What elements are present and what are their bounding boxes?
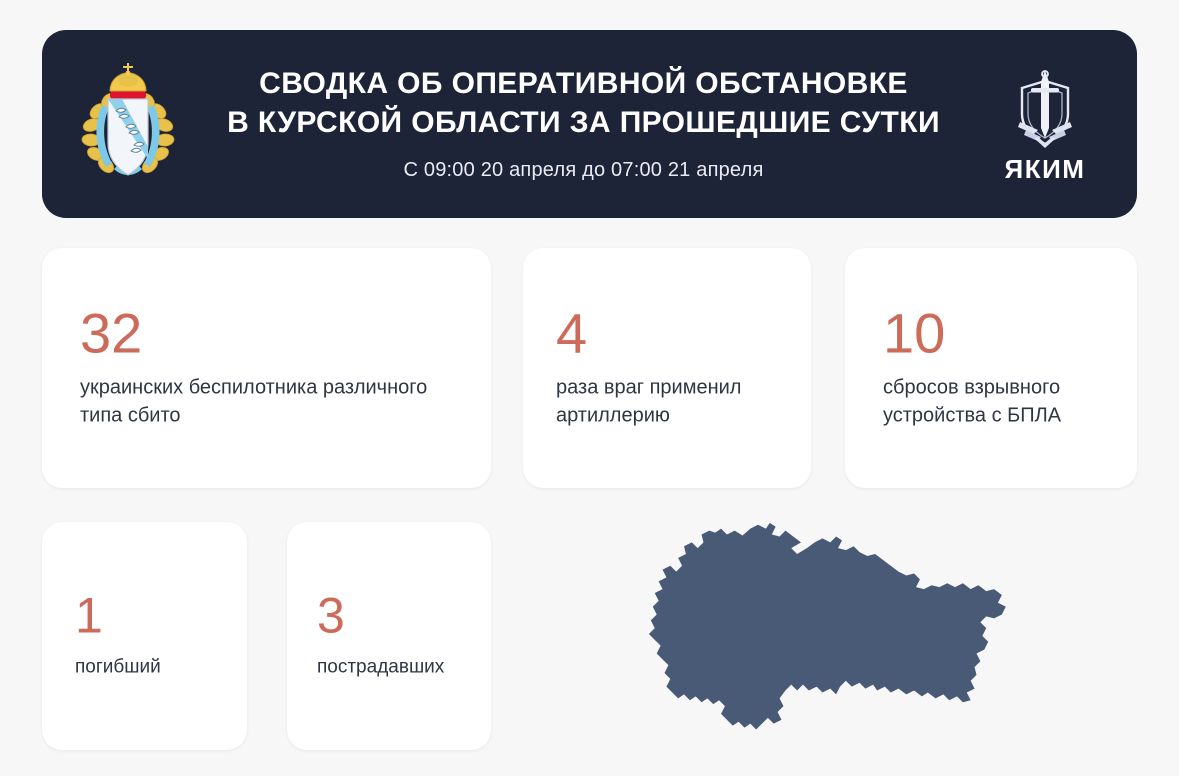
stat-value: 3: [317, 591, 479, 641]
infographic-page: СВОДКА ОБ ОПЕРАТИВНОЙ ОБСТАНОВКЕ В КУРСК…: [0, 0, 1179, 776]
header-text-block: СВОДКА ОБ ОПЕРАТИВНОЙ ОБСТАНОВКЕ В КУРСК…: [188, 64, 979, 184]
stat-label: пострадавших: [317, 655, 479, 682]
stat-card: 4 раза враг применил артиллерию: [523, 248, 811, 488]
stat-value: 1: [75, 591, 233, 641]
coat-of-arms: [68, 61, 188, 187]
page-title-line-2: В КУРСКОЙ ОБЛАСТИ ЗА ПРОШЕДШИЕ СУТКИ: [194, 103, 973, 142]
stat-label: украинских беспилотника различного типа …: [80, 374, 471, 431]
header-banner: СВОДКА ОБ ОПЕРАТИВНОЙ ОБСТАНОВКЕ В КУРСК…: [42, 30, 1137, 218]
logo-wordmark: ЯКИМ: [1005, 156, 1086, 182]
stat-card: 1 погибший: [42, 522, 247, 750]
stat-value: 10: [883, 306, 1119, 362]
stat-value: 4: [556, 306, 793, 362]
shield-sword-emblem-icon: [1008, 66, 1082, 154]
stat-label: сбросов взрывного устройства с БПЛА: [883, 374, 1119, 431]
stat-label: погибший: [75, 655, 233, 682]
stat-label: раза враг применил артиллерию: [556, 374, 793, 431]
stat-card: 10 сбросов взрывного устройства с БПЛА: [845, 248, 1137, 488]
kursk-oblast-coat-of-arms-icon: [76, 61, 180, 187]
stat-card: 3 пострадавших: [287, 522, 491, 750]
stat-value: 32: [80, 306, 471, 362]
kursk-oblast-map-silhouette-icon: [645, 508, 1035, 758]
page-title-line-1: СВОДКА ОБ ОПЕРАТИВНОЙ ОБСТАНОВКЕ: [194, 64, 973, 103]
publisher-logo: ЯКИМ: [979, 66, 1111, 182]
report-period-subtitle: С 09:00 20 апреля до 07:00 21 апреля: [194, 156, 973, 184]
region-map: [645, 508, 1035, 758]
stat-card: 32 украинских беспилотника различного ти…: [42, 248, 491, 488]
